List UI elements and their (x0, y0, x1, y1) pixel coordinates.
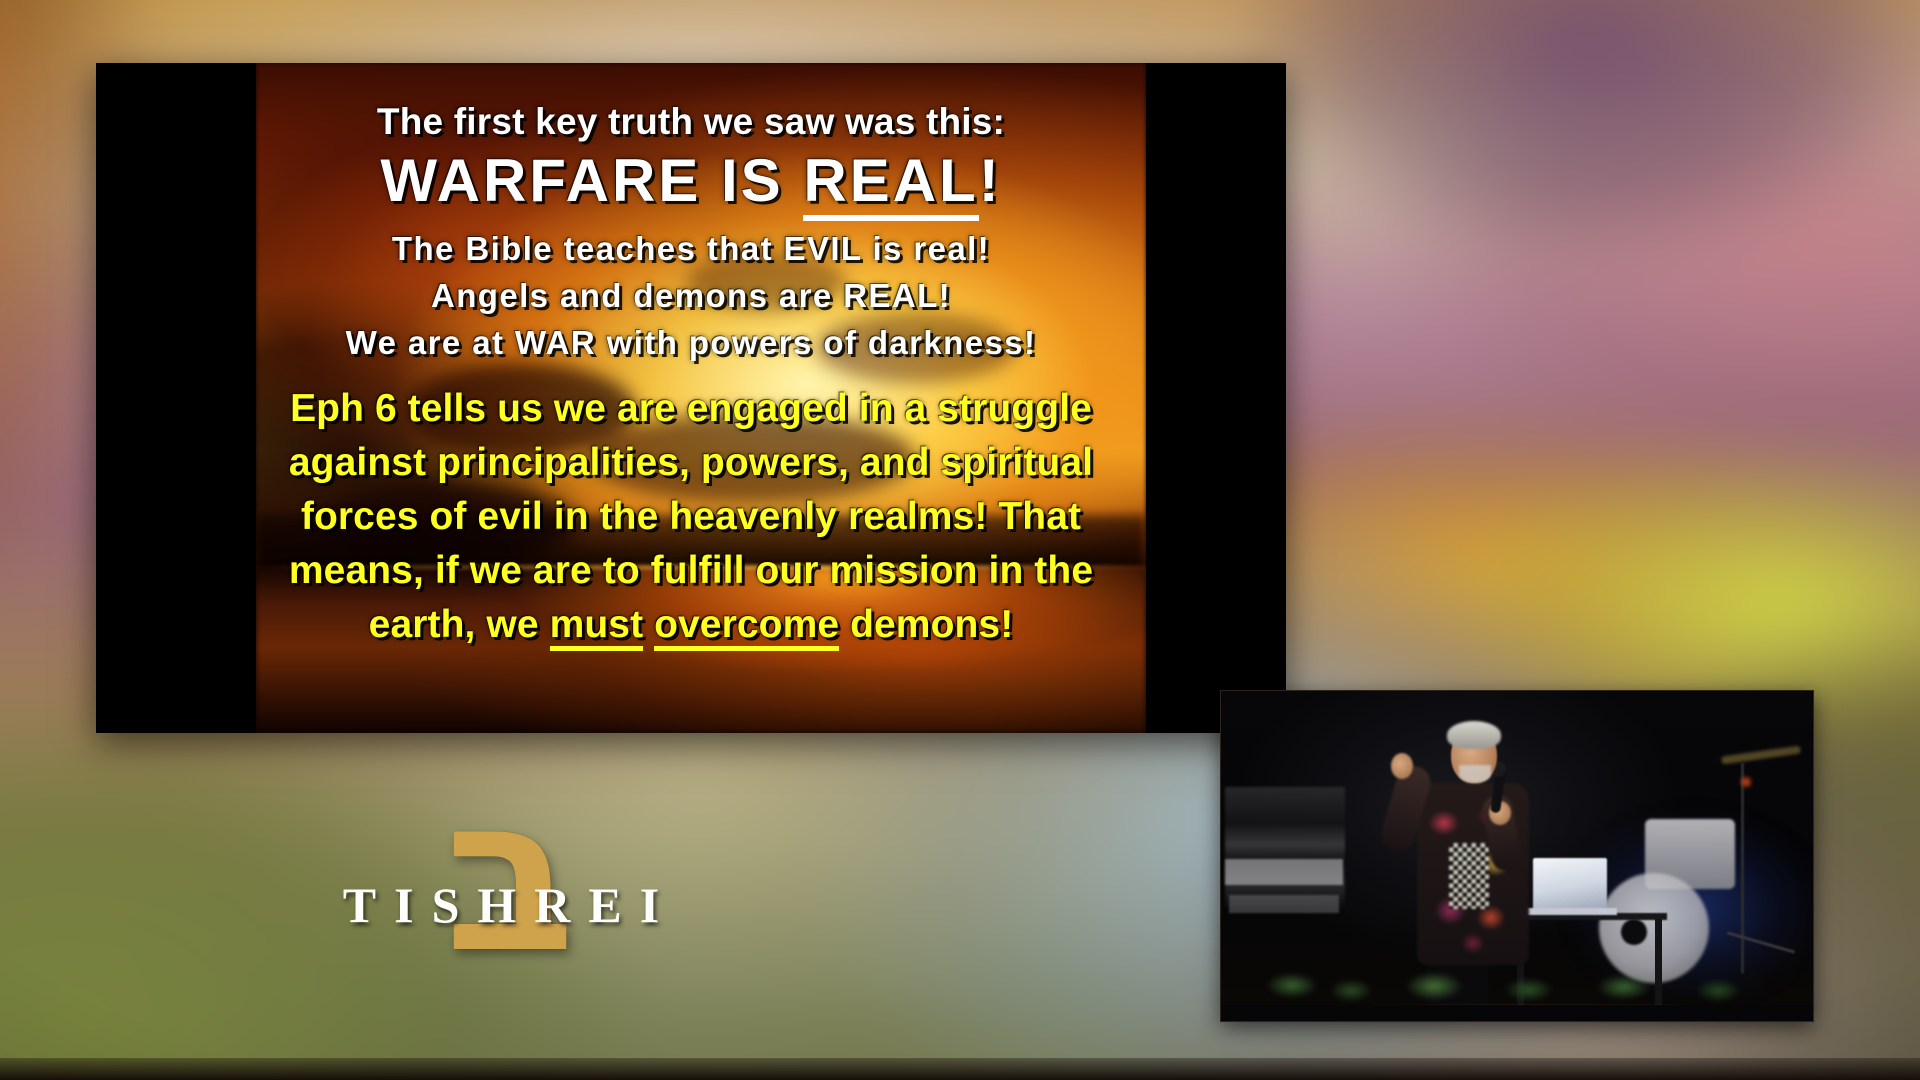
video-laptop-base (1525, 908, 1617, 915)
video-speaker-hair (1447, 721, 1501, 749)
slide-yellow-paragraph: Eph 6 tells us we are engaged in a strug… (96, 382, 1286, 652)
background-bottom-strip (0, 1058, 1920, 1080)
video-keyboard-rack (1225, 787, 1345, 907)
slide-yellow-line-emphasis: earth, we must overcome demons! (96, 598, 1286, 652)
headline-prefix: WARFARE IS (380, 147, 803, 214)
headline-underlined-word: REAL (803, 147, 978, 221)
video-kick-drum-port (1621, 919, 1647, 945)
slide-yellow-line: Eph 6 tells us we are engaged in a strug… (96, 382, 1286, 436)
video-keyboard-keys (1229, 895, 1339, 913)
video-cymbal-stand (1741, 763, 1744, 973)
slide-white-line: The Bible teaches that EVIL is real! (96, 225, 1286, 272)
video-keyboard-keys (1225, 859, 1343, 885)
slide-text-block: The first key truth we saw was this: WAR… (96, 63, 1286, 652)
yellow-line-suffix: demons! (839, 603, 1013, 646)
yellow-line-prefix: earth, we (369, 603, 550, 646)
video-speaker-left-hand (1391, 753, 1413, 779)
speaker-camera-feed (1220, 690, 1814, 1022)
slide-yellow-line: forces of evil in the heavenly realms! T… (96, 490, 1286, 544)
video-stage-lamp (1741, 777, 1751, 787)
broadcast-stage: ב TISHREI The first key truth we saw was… (0, 0, 1920, 1080)
slide-yellow-line: against principalities, powers, and spir… (96, 436, 1286, 490)
hebrew-bet-icon: ב (444, 770, 575, 980)
yellow-line-space (643, 603, 654, 646)
video-speaker-shirt-pattern (1449, 843, 1489, 909)
video-stage-plants (1221, 959, 1813, 1003)
slide-yellow-line: means, if we are to fulfill our mission … (96, 544, 1286, 598)
headline-suffix: ! (979, 147, 1002, 214)
tishrei-logo: ב TISHREI (300, 770, 720, 985)
yellow-underlined-overcome: overcome (654, 603, 839, 651)
slide-white-line: We are at WAR with powers of darkness! (96, 319, 1286, 366)
slide-heading-lead: The first key truth we saw was this: (96, 99, 1286, 145)
slide-white-line: Angels and demons are REAL! (96, 272, 1286, 319)
tishrei-wordmark: TISHREI (300, 876, 720, 934)
video-laptop-screen (1533, 858, 1607, 910)
yellow-underlined-must: must (550, 603, 644, 651)
slide-headline: WARFARE IS REAL! (96, 147, 1286, 215)
video-speaker-beard (1459, 765, 1491, 783)
presentation-slide: The first key truth we saw was this: WAR… (96, 63, 1286, 733)
video-stage-floor (1221, 1005, 1813, 1021)
